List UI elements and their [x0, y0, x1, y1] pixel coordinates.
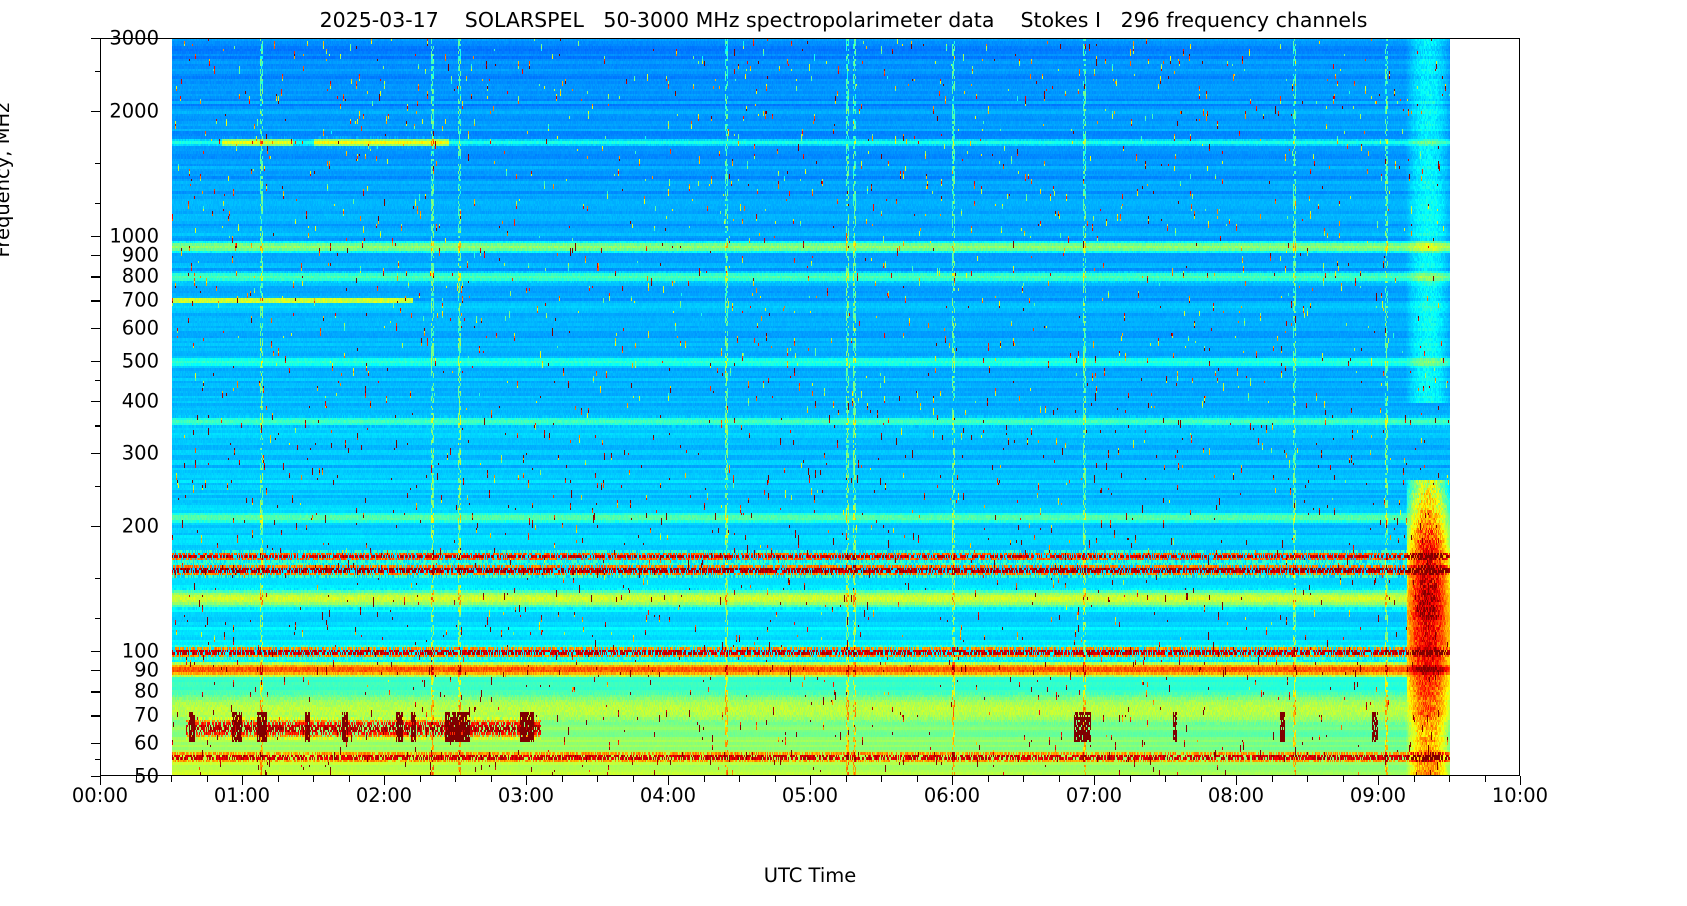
x-minor-tick-mark: [136, 776, 137, 782]
spectrogram-axes[interactable]: [100, 38, 1520, 776]
x-tick-mark: [242, 776, 243, 785]
x-minor-tick-mark: [1485, 776, 1486, 782]
x-minor-tick-mark: [739, 776, 740, 782]
y-minor-tick-mark: [95, 203, 101, 204]
x-minor-tick-mark: [491, 776, 492, 782]
y-tick-label: 600: [49, 317, 159, 340]
x-tick-mark: [100, 776, 101, 785]
y-tick-mark: [91, 651, 100, 652]
y-tick-mark: [91, 670, 100, 671]
x-tick-mark: [810, 776, 811, 785]
x-minor-tick-mark: [562, 776, 563, 782]
x-tick-label: 05:00: [750, 784, 870, 807]
x-minor-tick-mark: [1307, 776, 1308, 782]
x-minor-tick-mark: [420, 776, 421, 782]
y-minor-tick-mark: [95, 486, 101, 487]
x-tick-mark: [384, 776, 385, 785]
x-minor-tick-mark: [881, 776, 882, 782]
x-tick-mark: [1094, 776, 1095, 785]
x-minor-tick-mark: [1059, 776, 1060, 782]
figure-title: 2025-03-17 SOLARSPEL 50-3000 MHz spectro…: [0, 8, 1687, 32]
x-minor-tick-mark: [455, 776, 456, 782]
y-tick-mark: [91, 361, 100, 362]
x-minor-tick-mark: [775, 776, 776, 782]
y-tick-label: 800: [49, 265, 159, 288]
y-tick-mark: [91, 743, 100, 744]
x-tick-mark: [952, 776, 953, 785]
y-tick-mark: [91, 111, 100, 112]
x-minor-tick-mark: [1130, 776, 1131, 782]
x-tick-label: 07:00: [1034, 784, 1154, 807]
y-tick-label: 80: [49, 680, 159, 703]
x-minor-tick-mark: [704, 776, 705, 782]
x-minor-tick-mark: [1449, 776, 1450, 782]
x-minor-tick-mark: [988, 776, 989, 782]
x-tick-mark: [1236, 776, 1237, 785]
x-tick-label: 01:00: [182, 784, 302, 807]
y-axis-label: Frequency, MHz: [0, 30, 14, 330]
x-tick-label: 08:00: [1176, 784, 1296, 807]
y-tick-mark: [91, 236, 100, 237]
x-minor-tick-mark: [207, 776, 208, 782]
dynamic-spectrum-image: [101, 39, 1520, 776]
x-tick-label: 10:00: [1460, 784, 1580, 807]
y-minor-tick-mark: [95, 759, 101, 760]
y-tick-label: 2000: [49, 100, 159, 123]
y-minor-tick-mark: [95, 71, 101, 72]
y-tick-label: 200: [49, 515, 159, 538]
y-minor-tick-mark: [95, 380, 101, 381]
x-minor-tick-mark: [1165, 776, 1166, 782]
x-axis-label: UTC Time: [100, 864, 1520, 887]
y-tick-mark: [91, 255, 100, 256]
y-tick-label: 700: [49, 289, 159, 312]
y-tick-mark: [91, 401, 100, 402]
y-tick-label: 60: [49, 732, 159, 755]
x-tick-mark: [1520, 776, 1521, 785]
x-minor-tick-mark: [313, 776, 314, 782]
x-tick-label: 06:00: [892, 784, 1012, 807]
y-tick-mark: [91, 38, 100, 39]
x-tick-label: 04:00: [608, 784, 728, 807]
x-tick-mark: [1378, 776, 1379, 785]
y-tick-label: 3000: [49, 27, 159, 50]
x-minor-tick-mark: [1201, 776, 1202, 782]
dynamic-spectrum-figure: 2025-03-17 SOLARSPEL 50-3000 MHz spectro…: [0, 0, 1687, 906]
x-minor-tick-mark: [1343, 776, 1344, 782]
y-tick-mark: [91, 453, 100, 454]
x-tick-mark: [668, 776, 669, 785]
x-tick-label: 02:00: [324, 784, 444, 807]
y-tick-mark: [91, 776, 100, 777]
y-tick-mark: [91, 691, 100, 692]
y-minor-tick-mark: [95, 578, 101, 579]
x-minor-tick-mark: [917, 776, 918, 782]
x-minor-tick-mark: [1414, 776, 1415, 782]
x-tick-mark: [526, 776, 527, 785]
y-tick-label: 400: [49, 390, 159, 413]
y-minor-tick-mark: [95, 163, 101, 164]
x-tick-label: 03:00: [466, 784, 586, 807]
y-tick-mark: [91, 328, 100, 329]
y-tick-mark: [91, 300, 100, 301]
y-minor-tick-mark: [95, 618, 101, 619]
y-tick-label: 500: [49, 349, 159, 372]
x-minor-tick-mark: [1272, 776, 1273, 782]
x-tick-label: 09:00: [1318, 784, 1438, 807]
x-minor-tick-mark: [349, 776, 350, 782]
y-tick-label: 90: [49, 659, 159, 682]
y-tick-label: 900: [49, 244, 159, 267]
y-tick-mark: [91, 715, 100, 716]
y-tick-label: 70: [49, 704, 159, 727]
y-tick-mark: [91, 526, 100, 527]
y-tick-label: 300: [49, 442, 159, 465]
x-minor-tick-mark: [846, 776, 847, 782]
x-minor-tick-mark: [171, 776, 172, 782]
x-minor-tick-mark: [278, 776, 279, 782]
x-minor-tick-mark: [597, 776, 598, 782]
x-tick-label: 00:00: [40, 784, 160, 807]
y-tick-mark: [91, 276, 100, 277]
x-minor-tick-mark: [633, 776, 634, 782]
x-minor-tick-mark: [1023, 776, 1024, 782]
y-minor-tick-mark: [95, 425, 101, 426]
